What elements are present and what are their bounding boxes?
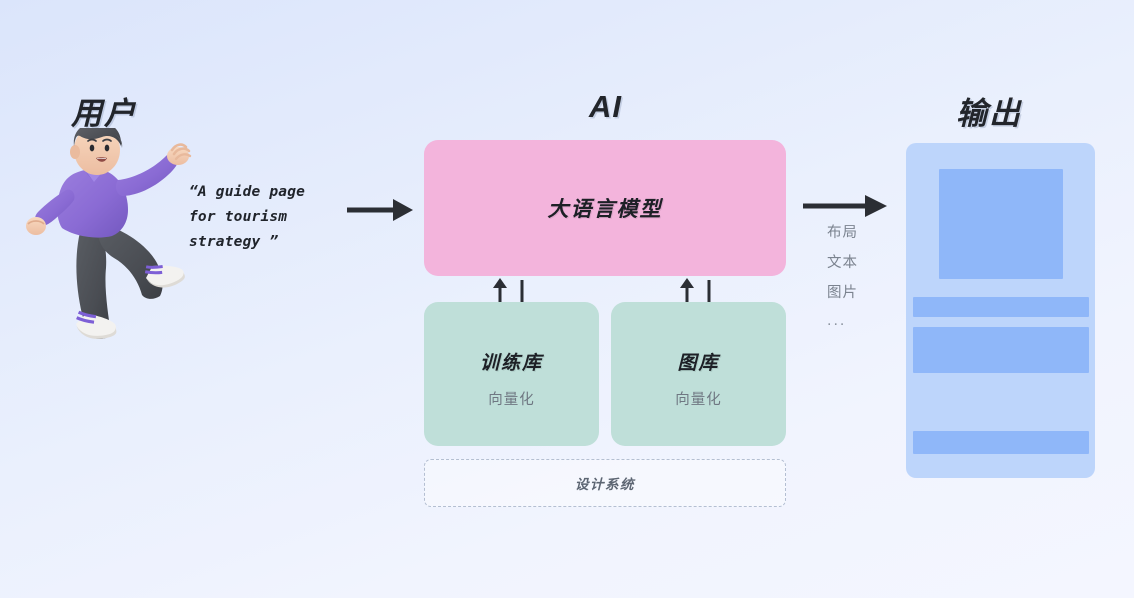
output-label-ellipsis: ... — [827, 308, 858, 334]
arrow-right-icon — [347, 196, 415, 231]
llm-box[interactable]: 大语言模型 — [424, 140, 786, 276]
training-library-subtitle: 向量化 — [488, 388, 535, 409]
image-gallery-box[interactable]: 图库 向量化 — [611, 302, 786, 446]
output-label: 图片 — [827, 278, 858, 308]
training-library-title: 训练库 — [480, 348, 543, 375]
quote-line: strategy ” — [189, 230, 364, 255]
output-label: 文本 — [827, 248, 858, 278]
quote-line: “A guide page — [189, 180, 364, 205]
diagram-canvas: 用户 AI 输出 — [0, 0, 1134, 598]
design-system-label: 设计系统 — [575, 473, 635, 493]
section-title-user: 用户 — [71, 88, 137, 133]
wireframe-footer-bar — [913, 431, 1089, 454]
user-prompt-quote: “A guide page for tourism strategy ” — [189, 180, 364, 255]
wireframe-title-bar — [913, 297, 1089, 317]
section-title-output: 输出 — [956, 88, 1022, 133]
image-gallery-title: 图库 — [677, 348, 719, 375]
output-label-list: 布局 文本 图片 ... — [827, 218, 858, 334]
wireframe-hero-image — [939, 169, 1063, 279]
section-title-ai: AI — [589, 89, 622, 125]
image-gallery-subtitle: 向量化 — [675, 388, 722, 409]
output-label: 布局 — [827, 218, 858, 248]
quote-line: for tourism — [189, 205, 364, 230]
llm-label: 大语言模型 — [548, 193, 663, 223]
page-wireframe-preview[interactable] — [906, 143, 1095, 478]
person-3d-illustration — [18, 128, 208, 353]
training-library-box[interactable]: 训练库 向量化 — [424, 302, 599, 446]
wireframe-content-block — [913, 327, 1089, 373]
design-system-box[interactable]: 设计系统 — [424, 459, 786, 507]
